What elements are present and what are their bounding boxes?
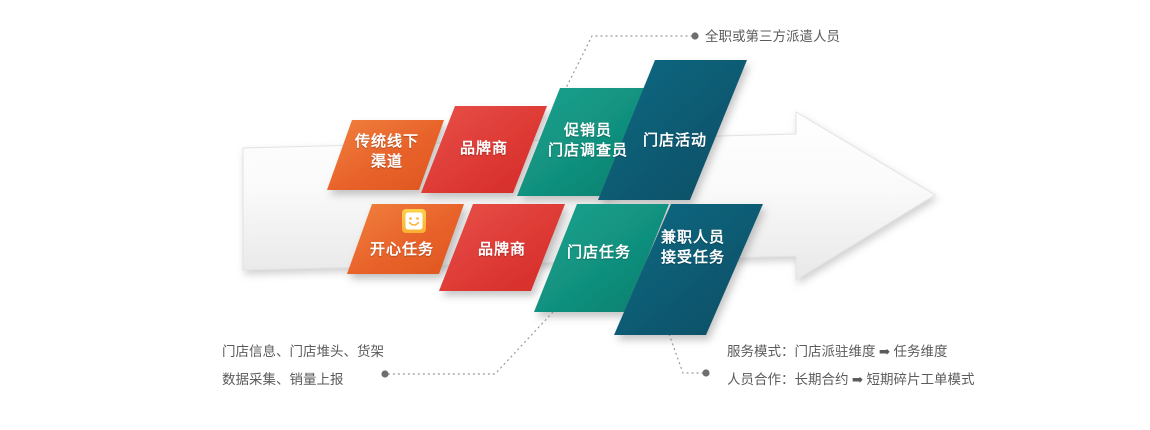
diagram-canvas: 传统线下 渠道 品牌商 促销员 门店调查员 门店活动 开心任务 品牌商 门店任务… (0, 0, 1150, 430)
connector-bottom-left (381, 312, 553, 378)
annotation-bottom-left-line-2: 数据采集、销量上报 (222, 368, 344, 392)
annotation-top-right-line-1: 全职或第三方派遣人员 (705, 25, 840, 49)
annotation-bottom-right-line-2: 人员合作：长期合约 ➡ 短期碎片工单模式 (727, 368, 975, 392)
diagram-svg (0, 0, 1150, 430)
smiley-face-icon (402, 209, 426, 233)
annotation-bottom-left-line-1: 门店信息、门店堆头、货架 (222, 340, 384, 364)
annotation-bottom-right-line-1: 服务模式：门店派驻维度 ➡ 任务维度 (727, 340, 948, 364)
connector-bottom-right (669, 334, 710, 377)
